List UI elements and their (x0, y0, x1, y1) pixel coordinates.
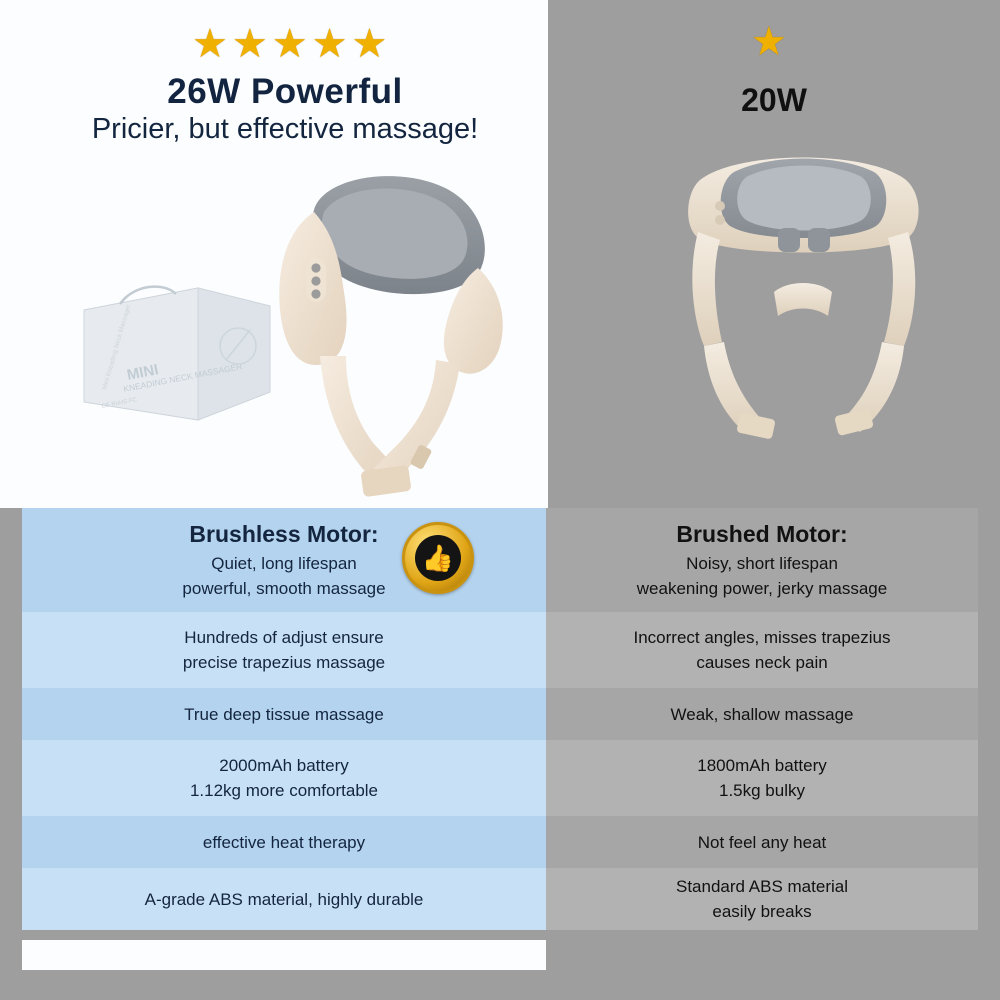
left-line: Quiet, long lifespan (211, 551, 357, 576)
comparison-infographic: ★ ★ ★ ★ ★ 26W Powerful Pricier, but effe… (0, 0, 1000, 1000)
right-line: 1.5kg bulky (719, 778, 805, 803)
right-line: weakening power, jerky massage (637, 576, 887, 601)
bottom-spacer (22, 940, 546, 970)
thumbs-up-badge-icon: 👍 (402, 522, 474, 594)
left-line: Hundreds of adjust ensure (184, 625, 383, 650)
left-line: 2000mAh battery (219, 753, 348, 778)
right-cell-battery: 1800mAh battery 1.5kg bulky (546, 740, 978, 816)
left-line: True deep tissue massage (184, 702, 384, 727)
left-cell-battery: 2000mAh battery 1.12kg more comfortable (22, 740, 546, 816)
right-line: Weak, shallow massage (671, 702, 854, 727)
left-header-motor: Brushless Motor: (189, 519, 378, 549)
left-product-panel: ★ ★ ★ ★ ★ 26W Powerful Pricier, but effe… (0, 0, 548, 508)
star-icon: ★ (312, 24, 348, 64)
right-header-motor: Brushed Motor: (676, 519, 847, 549)
left-cell-motor: Brushless Motor: Quiet, long lifespan po… (22, 508, 546, 612)
table-row: effective heat therapy Not feel any heat (22, 816, 978, 868)
right-cell-material: Standard ABS material easily breaks (546, 868, 978, 930)
massager-20w-image (678, 140, 928, 470)
left-subtitle: Pricier, but effective massage! (22, 113, 548, 146)
star-icon: ★ (751, 22, 787, 62)
left-line: precise trapezius massage (183, 650, 385, 675)
right-cell-heat: Not feel any heat (546, 816, 978, 868)
massager-26w-image (254, 150, 524, 508)
right-line: Incorrect angles, misses trapezius (634, 625, 891, 650)
right-line: 1800mAh battery (697, 753, 826, 778)
table-row: A-grade ABS material, highly durable Sta… (22, 868, 978, 930)
right-star-rating: ★ (751, 22, 787, 62)
product-hero-section: ★ ★ ★ ★ ★ 26W Powerful Pricier, but effe… (0, 0, 1000, 508)
left-line: 1.12kg more comfortable (190, 778, 378, 803)
left-cell-material: A-grade ABS material, highly durable (22, 868, 546, 930)
right-title: 20W (548, 82, 1000, 119)
right-line: Not feel any heat (698, 830, 827, 855)
star-icon: ★ (351, 24, 387, 64)
right-product-panel: ★ 20W (548, 0, 1000, 508)
right-cell-adjust: Incorrect angles, misses trapezius cause… (546, 612, 978, 688)
table-row: 2000mAh battery 1.12kg more comfortable … (22, 740, 978, 816)
left-line: powerful, smooth massage (182, 576, 385, 601)
table-row: True deep tissue massage Weak, shallow m… (22, 688, 978, 740)
table-row: Brushless Motor: Quiet, long lifespan po… (22, 508, 978, 612)
left-star-rating: ★ ★ ★ ★ ★ (192, 24, 387, 64)
left-cell-tissue: True deep tissue massage (22, 688, 546, 740)
left-title: 26W Powerful (22, 72, 548, 112)
star-icon: ★ (192, 24, 228, 64)
star-icon: ★ (272, 24, 308, 64)
left-cell-adjust: Hundreds of adjust ensure precise trapez… (22, 612, 546, 688)
right-line: Standard ABS material (676, 874, 848, 899)
right-cell-tissue: Weak, shallow massage (546, 688, 978, 740)
left-cell-heat: effective heat therapy (22, 816, 546, 868)
right-line: causes neck pain (696, 650, 827, 675)
product-box-image: MINI KNEADING NECK MASSAGER Mini Kneadin… (80, 268, 275, 428)
feature-comparison-table: Brushless Motor: Quiet, long lifespan po… (22, 508, 978, 930)
left-line: A-grade ABS material, highly durable (145, 887, 424, 912)
left-line: effective heat therapy (203, 830, 365, 855)
right-cell-motor: Brushed Motor: Noisy, short lifespan wea… (546, 508, 978, 612)
right-line: easily breaks (712, 899, 811, 924)
star-icon: ★ (232, 24, 268, 64)
table-row: Hundreds of adjust ensure precise trapez… (22, 612, 978, 688)
right-line: Noisy, short lifespan (686, 551, 838, 576)
